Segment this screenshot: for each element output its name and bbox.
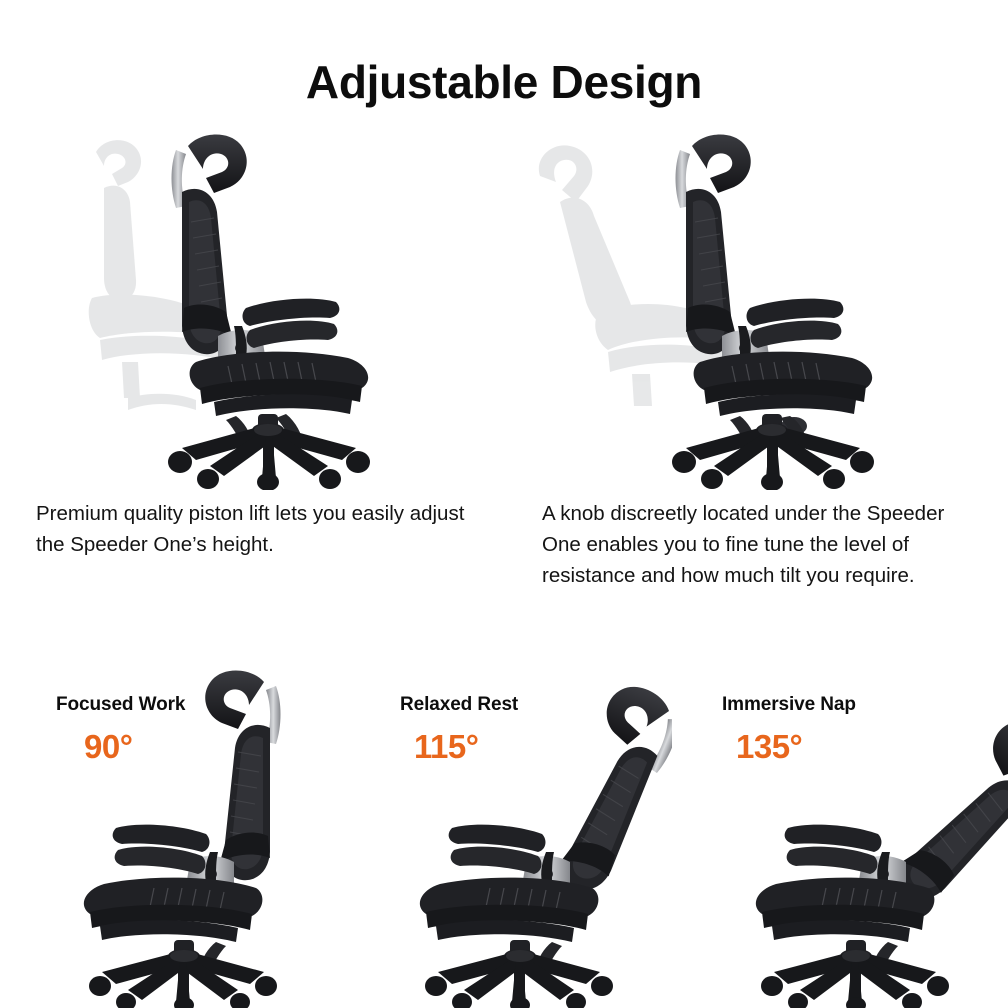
feature-row: Premium quality piston lift lets you eas… [0, 130, 1008, 630]
feature-height-adjust: Premium quality piston lift lets you eas… [0, 130, 504, 630]
feature-tension-knob: A knob discreetly located under the Spee… [504, 130, 1008, 630]
feature-caption: A knob discreetly located under the Spee… [542, 498, 962, 591]
feature-caption: Premium quality piston lift lets you eas… [36, 498, 486, 560]
angle-label: Focused Work [0, 694, 336, 716]
infographic-page: Adjustable Design [0, 0, 1008, 1008]
chair-base [761, 949, 949, 1008]
chair-tilt-tension-illustration [504, 130, 1008, 490]
chair-base [168, 423, 370, 490]
angle-value: 115° [336, 728, 672, 766]
page-title: Adjustable Design [0, 58, 1008, 106]
chair-height-adjustment-illustration [0, 130, 504, 490]
angle-option-immersive-nap: Immersive Nap 135° [672, 660, 1008, 1008]
angle-option-focused-work: Focused Work 90° [0, 660, 336, 1008]
chair-base [89, 949, 277, 1008]
recline-angle-row: Focused Work 90° [0, 660, 1008, 1008]
angle-value: 135° [672, 728, 1008, 766]
angle-option-relaxed-rest: Relaxed Rest 115° [336, 660, 672, 1008]
chair-base [425, 949, 613, 1008]
angle-value: 90° [0, 728, 336, 766]
angle-label: Relaxed Rest [336, 694, 672, 716]
chair-base [672, 423, 874, 490]
angle-label: Immersive Nap [672, 694, 1008, 716]
